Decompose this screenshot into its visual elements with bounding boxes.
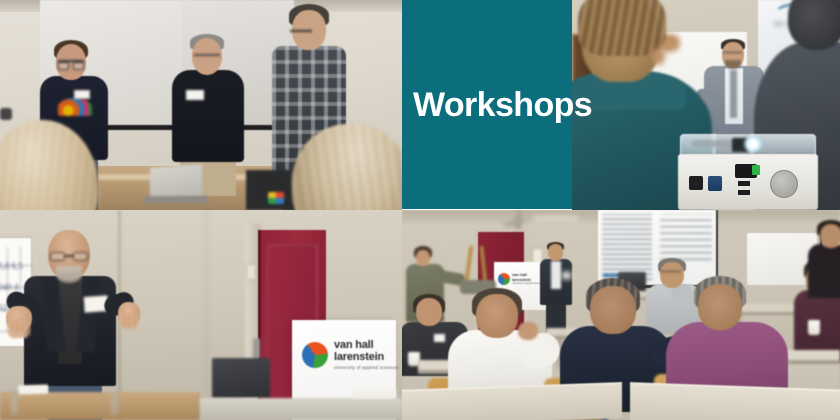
photo-bottom-left: 5,8 6,5340 432 1 [0, 210, 402, 420]
logo-line-1: van hall [334, 340, 399, 351]
table-foreground-right [200, 398, 402, 420]
tie [730, 70, 737, 118]
name-badge [562, 272, 571, 279]
glasses-icon [723, 52, 742, 56]
wall-camera-icon [0, 108, 12, 120]
logo-tagline: university of applied sciences [334, 366, 399, 371]
ear [652, 48, 665, 65]
face [416, 298, 442, 326]
left-fingers [8, 322, 30, 338]
projector-slot-icon [738, 181, 750, 186]
face [416, 250, 430, 266]
light-switch [246, 264, 256, 280]
papers [352, 390, 396, 398]
projector-vga-port-icon [708, 176, 722, 191]
glasses-icon [290, 30, 312, 35]
papers [18, 384, 48, 394]
face [820, 224, 840, 248]
head-back-view [698, 284, 742, 330]
chair-leg [12, 390, 17, 414]
table-foreground-left [0, 392, 200, 420]
photo-bottom-right: van hall larenstein university of applie… [402, 210, 840, 420]
projection-screen-with-slides [598, 210, 718, 288]
logo-line-2: larenstein [334, 352, 399, 363]
beard [56, 266, 82, 283]
sweater-graphic-print [58, 98, 92, 116]
whiteboard-line-1: 5,8 6,5 [0, 261, 23, 271]
wall-seam [205, 210, 207, 420]
name-badge [186, 90, 204, 100]
hair [578, 0, 666, 56]
shirt [551, 261, 561, 289]
dark-top [808, 244, 840, 298]
workshops-photo-collage: PUM [0, 0, 840, 420]
workshops-title-panel: Workshops [402, 0, 572, 209]
glasses-lens-left [50, 252, 65, 261]
glasses-lens-right [73, 252, 88, 261]
glasses-icon [58, 60, 84, 66]
name-badge [434, 334, 445, 342]
face [548, 244, 563, 261]
head-back-view [476, 294, 518, 338]
photo-top-right: PUM [572, 0, 840, 210]
projector-lamp-glow [742, 136, 764, 152]
slide-text-column-left [602, 214, 652, 280]
head-back-view [590, 286, 636, 334]
laptop-base [144, 196, 208, 203]
glasses-icon [659, 271, 681, 276]
glasses-icon [50, 252, 88, 261]
monitor [212, 358, 270, 398]
glasses-icon [194, 54, 220, 60]
projector-status-led-icon [752, 165, 760, 175]
right-fingers [120, 314, 138, 329]
van-hall-larenstein-logo: van hall larenstein university of applie… [302, 340, 399, 371]
laptop [150, 164, 202, 200]
laptop-sticker-icon [268, 192, 284, 204]
raised-arm [672, 284, 692, 310]
paper-cup [808, 320, 820, 335]
logo-tagline: university of applied sciences [512, 282, 543, 285]
van-hall-larenstein-mark-icon [302, 342, 328, 368]
table-foreground-right [630, 382, 840, 420]
name-badge [74, 90, 90, 99]
table-foreground-left [402, 382, 622, 420]
ceiling-light [534, 216, 578, 221]
slide-text-column-right [660, 214, 712, 260]
projector-focus-dial-icon [770, 170, 798, 198]
hand [518, 322, 538, 340]
glasses-bridge [65, 255, 73, 257]
logo-wordmark-small: van hall larenstein university of applie… [512, 272, 543, 285]
projector-port-icon [689, 176, 703, 190]
van-hall-larenstein-logo-small: van hall larenstein university of applie… [498, 272, 543, 285]
page-title: Workshops [413, 88, 592, 122]
door-handle [253, 338, 260, 360]
projector-slot-icon [738, 190, 750, 195]
photo-top-left [0, 0, 402, 210]
head-back-view [788, 0, 840, 50]
chair-leg [112, 390, 117, 414]
dark-top [172, 70, 244, 162]
logo-wordmark: van hall larenstein university of applie… [334, 340, 399, 371]
beard [725, 60, 741, 69]
